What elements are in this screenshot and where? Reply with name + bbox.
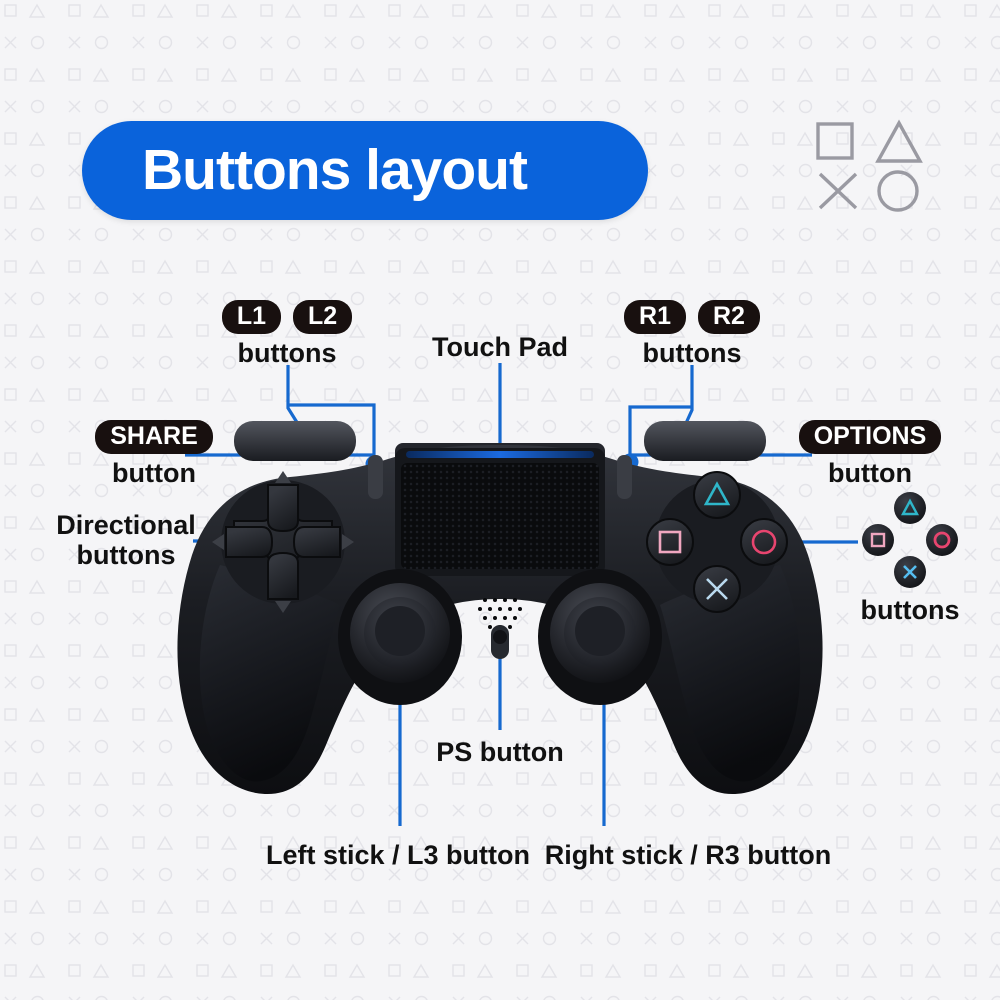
circle-button [741,519,787,565]
face-buttons-sublabel: buttons [853,595,967,626]
annotation-r1-r2: R1 R2 buttons [627,300,757,369]
right-stick-label: Right stick / R3 button [508,840,868,871]
square-button [647,519,693,565]
annotation-l1-l2: L1 L2 buttons [222,300,352,369]
options-pill: OPTIONS [799,420,942,454]
triangle-button [694,472,740,518]
touch-pad-label: Touch Pad [420,332,580,363]
infographic-canvas: Buttons layout [0,0,1000,1000]
directional-label-line2: buttons [30,540,222,570]
touch-pad[interactable] [395,448,605,576]
legend-circle-button [926,524,958,556]
annotation-options: OPTIONS button [780,420,960,489]
legend-square-button [862,524,894,556]
options-button [617,455,632,499]
page-title-banner: Buttons layout [82,121,648,220]
share-pill-row: SHARE [68,420,240,454]
annotation-directional: Directional buttons [30,510,222,570]
annotation-share: SHARE button [68,420,240,489]
r1-r2-pill-row: R1 R2 [627,300,757,334]
options-sublabel: button [780,458,960,489]
left-analog-stick[interactable] [338,569,462,705]
l1-l2-sublabel: buttons [222,338,352,369]
speaker-grille [478,598,522,629]
l1-pill: L1 [222,300,281,334]
r1-r2-sublabel: buttons [627,338,757,369]
r1-pill: R1 [624,300,686,334]
square-icon [818,124,852,158]
touchpad-surface [401,463,599,569]
dpad-left-button [226,527,272,557]
l2-pill: L2 [293,300,352,334]
dpad-down-button [268,553,298,599]
share-sublabel: button [68,458,240,489]
r2-pill: R2 [698,300,760,334]
dpad-right-button [294,527,340,557]
share-pill: SHARE [95,420,213,454]
l1-l2-pill-row: L1 L2 [222,300,352,334]
page-title: Buttons layout [82,142,527,199]
circle-icon [879,172,917,210]
triangle-icon [878,123,920,161]
legend-triangle-button [894,492,926,524]
share-button [368,455,383,499]
ps-button-label: PS button [410,737,590,768]
r1-shoulder-button [644,421,766,461]
light-bar [406,451,594,458]
directional-label-line1: Directional [30,510,222,540]
dpad-up-button [268,485,298,531]
playstation-symbols-logo [812,118,930,214]
annotation-right-stick: Right stick / R3 button [508,836,868,871]
annotation-touch-pad: Touch Pad [420,328,580,363]
ps-button[interactable] [491,625,509,659]
cross-icon [820,174,856,208]
l1-shoulder-button [234,421,356,461]
options-pill-row: OPTIONS [780,420,960,454]
annotation-ps-button: PS button [410,733,590,768]
right-analog-stick[interactable] [538,569,662,705]
face-buttons-legend [862,492,958,592]
